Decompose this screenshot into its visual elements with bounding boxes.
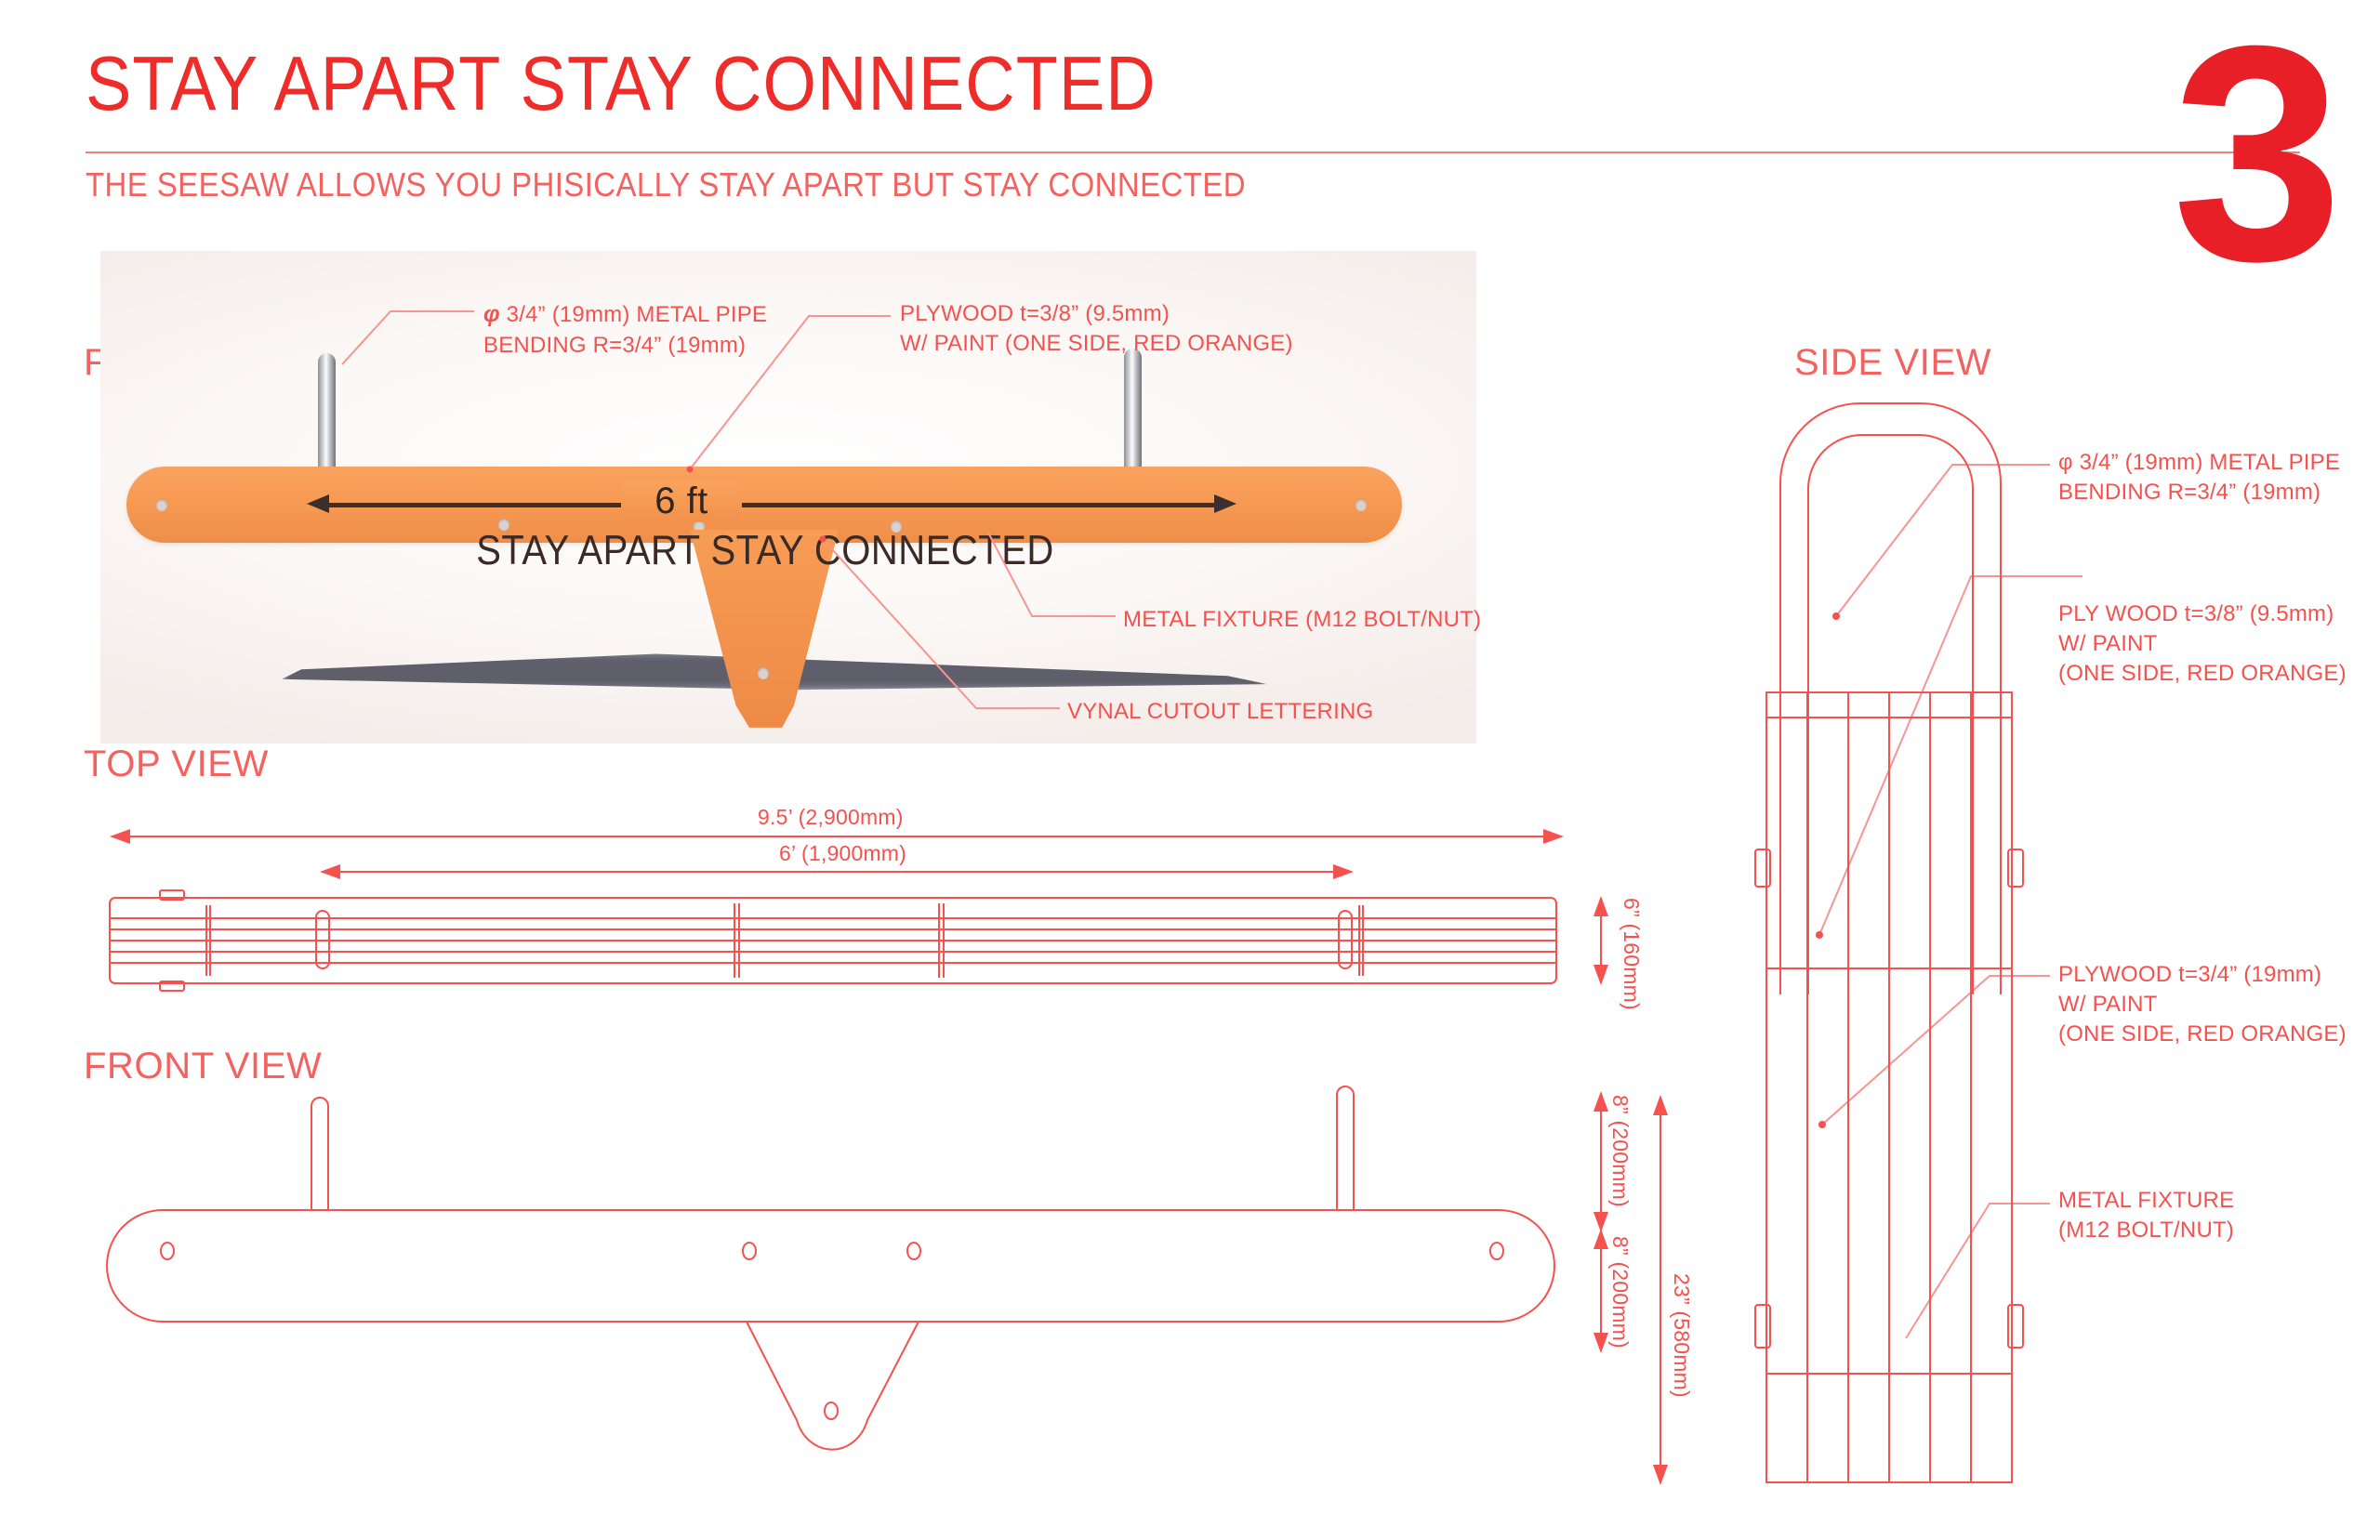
drawing-sheet: STAY APART STAY CONNECTED THE SEESAW ALL… — [0, 0, 2380, 1540]
side-view-drawing — [0, 0, 2380, 1540]
